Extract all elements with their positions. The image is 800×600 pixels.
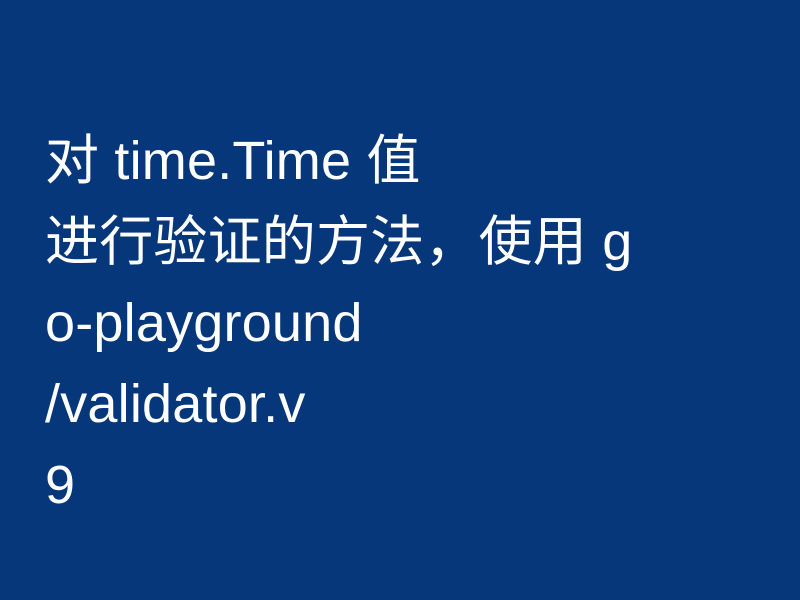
title-line-4: /validator.v xyxy=(45,364,735,445)
title-line-5: 9 xyxy=(45,445,735,526)
page-title: 对 time.Time 值 进行验证的方法，使用 g o-playground … xyxy=(45,121,735,526)
title-card: 对 time.Time 值 进行验证的方法，使用 g o-playground … xyxy=(0,0,800,600)
title-line-1: 对 time.Time 值 xyxy=(45,121,735,202)
title-line-2: 进行验证的方法，使用 g xyxy=(45,202,735,283)
title-line-3: o-playground xyxy=(45,283,735,364)
